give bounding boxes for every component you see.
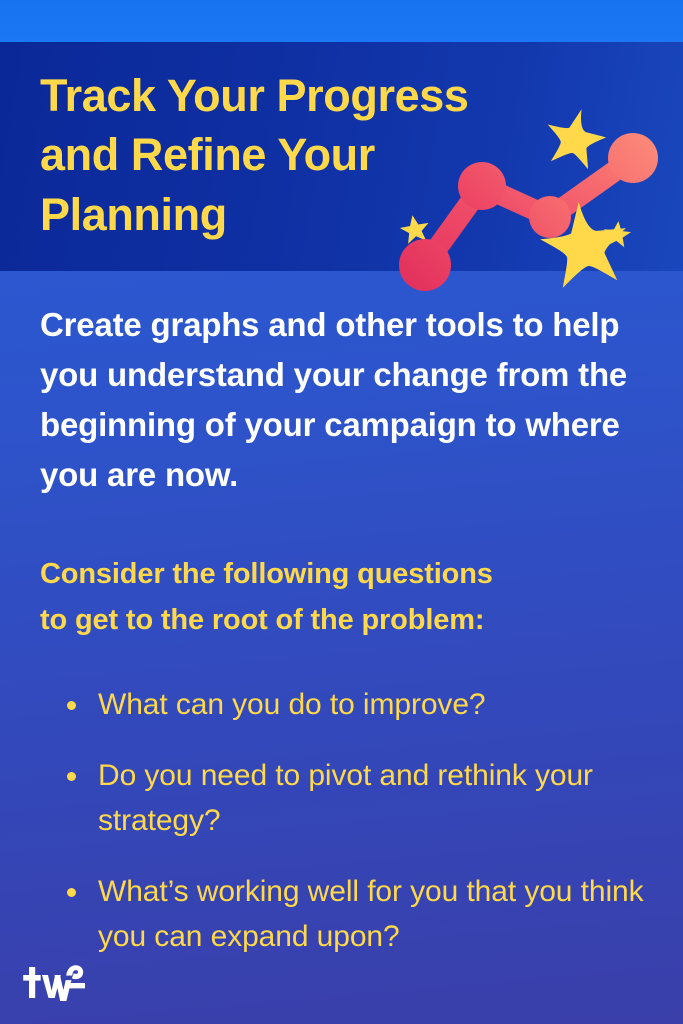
list-item-label: What’s working well for you that you thi… [98, 875, 644, 953]
brand-logo [22, 962, 86, 1004]
list-item-label: Do you need to pivot and rethink your st… [98, 759, 593, 837]
lead-paragraph: Create graphs and other tools to help yo… [40, 300, 650, 501]
list-item: What can you do to improve? [44, 682, 644, 727]
page-title: Track Your Progress and Refine Your Plan… [40, 66, 560, 244]
infographic-poster: Track Your Progress and Refine Your Plan… [0, 0, 683, 1024]
bullet-dot-icon [67, 701, 76, 710]
questions-list: What can you do to improve? Do you need … [44, 682, 644, 985]
section-subheading: Consider the following questions to get … [40, 552, 640, 644]
list-item: Do you need to pivot and rethink your st… [44, 753, 644, 843]
header-banner: Track Your Progress and Refine Your Plan… [0, 42, 683, 271]
list-item: What’s working well for you that you thi… [44, 869, 644, 959]
bullet-dot-icon [67, 888, 76, 897]
list-item-label: What can you do to improve? [98, 688, 486, 721]
top-accent-strip [0, 0, 683, 42]
bullet-dot-icon [67, 772, 76, 781]
logo-wordmark-icon [23, 965, 85, 1001]
